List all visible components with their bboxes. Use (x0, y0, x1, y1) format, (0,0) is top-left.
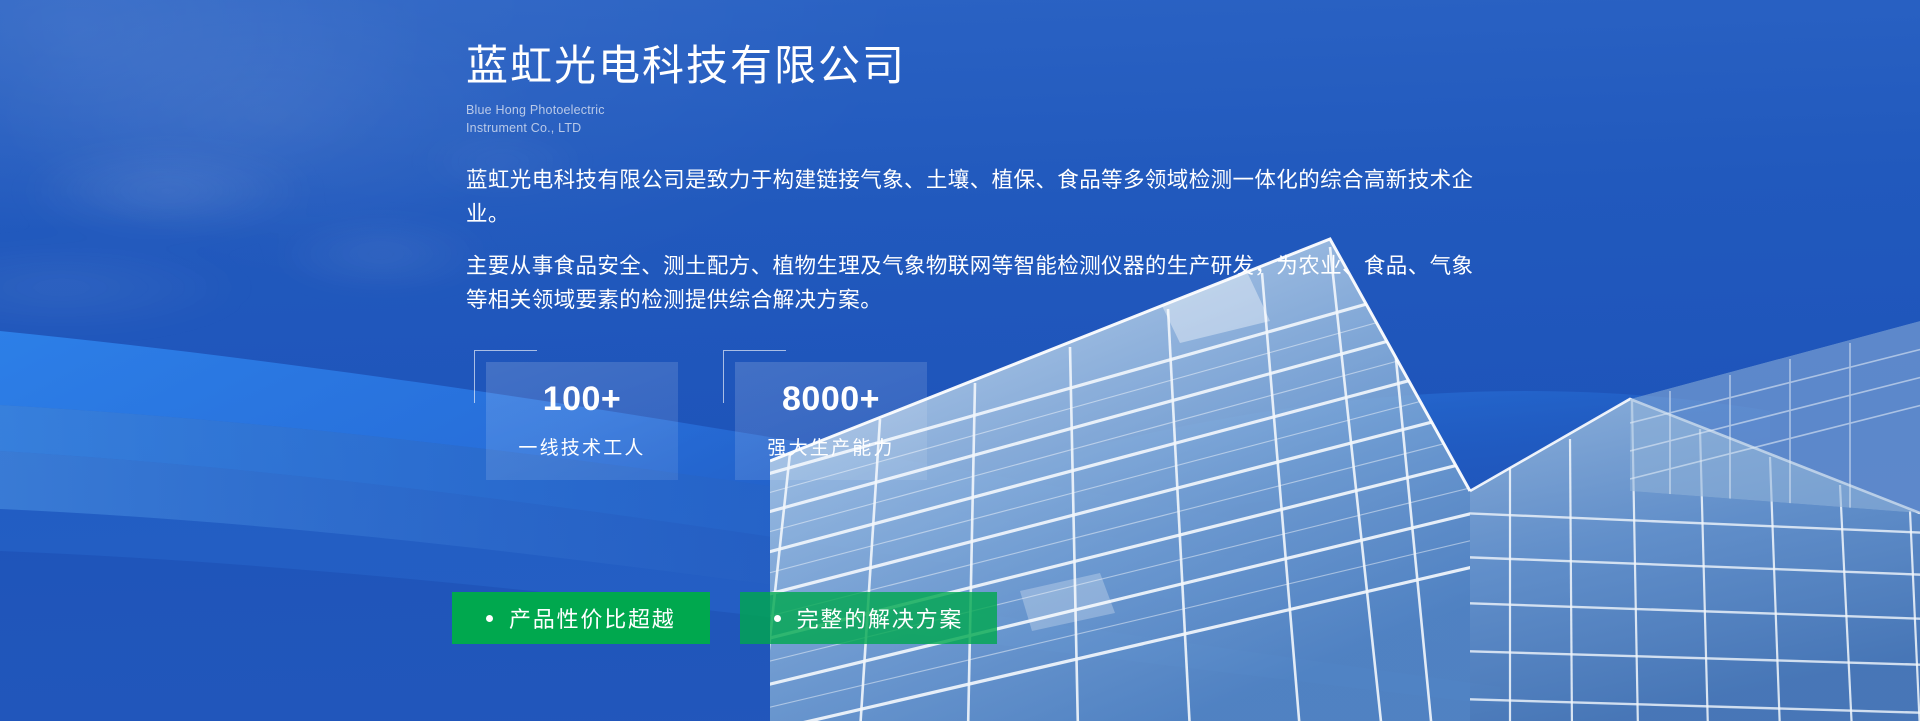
stat-number: 100+ (543, 382, 622, 416)
bullet-dot-icon (486, 615, 493, 622)
bullet-dot-icon (774, 615, 781, 622)
company-subtitle-line1: Blue Hong Photoelectric (466, 102, 1476, 120)
feature-tags: 产品性价比超越 完整的解决方案 (452, 592, 997, 644)
company-title: 蓝虹光电科技有限公司 (466, 40, 1476, 91)
hero-banner: 蓝虹光电科技有限公司 Blue Hong Photoelectric Instr… (0, 0, 1920, 721)
description-paragraph-2: 主要从事食品安全、测土配方、植物生理及气象物联网等智能检测仪器的生产研发，为农业… (466, 250, 1476, 318)
stat-card-workers: 100+ 一线技术工人 (486, 362, 678, 480)
feature-tag-label: 产品性价比超越 (509, 602, 676, 634)
description-paragraph-1: 蓝虹光电科技有限公司是致力于构建链接气象、土壤、植保、食品等多领域检测一体化的综… (466, 164, 1476, 232)
stat-label: 强大生产能力 (767, 433, 894, 460)
hero-content: 蓝虹光电科技有限公司 Blue Hong Photoelectric Instr… (466, 40, 1476, 480)
stat-card-capacity: 8000+ 强大生产能力 (735, 362, 927, 480)
stats-group: 100+ 一线技术工人 8000+ 强大生产能力 (466, 362, 1476, 480)
stat-number: 8000+ (782, 382, 880, 416)
feature-tag-value[interactable]: 产品性价比超越 (452, 592, 710, 644)
feature-tag-label: 完整的解决方案 (797, 602, 964, 634)
company-subtitle: Blue Hong Photoelectric Instrument Co., … (466, 102, 1476, 138)
stat-label: 一线技术工人 (518, 433, 645, 460)
feature-tag-solution[interactable]: 完整的解决方案 (740, 592, 998, 644)
company-subtitle-line2: Instrument Co., LTD (466, 120, 1476, 138)
